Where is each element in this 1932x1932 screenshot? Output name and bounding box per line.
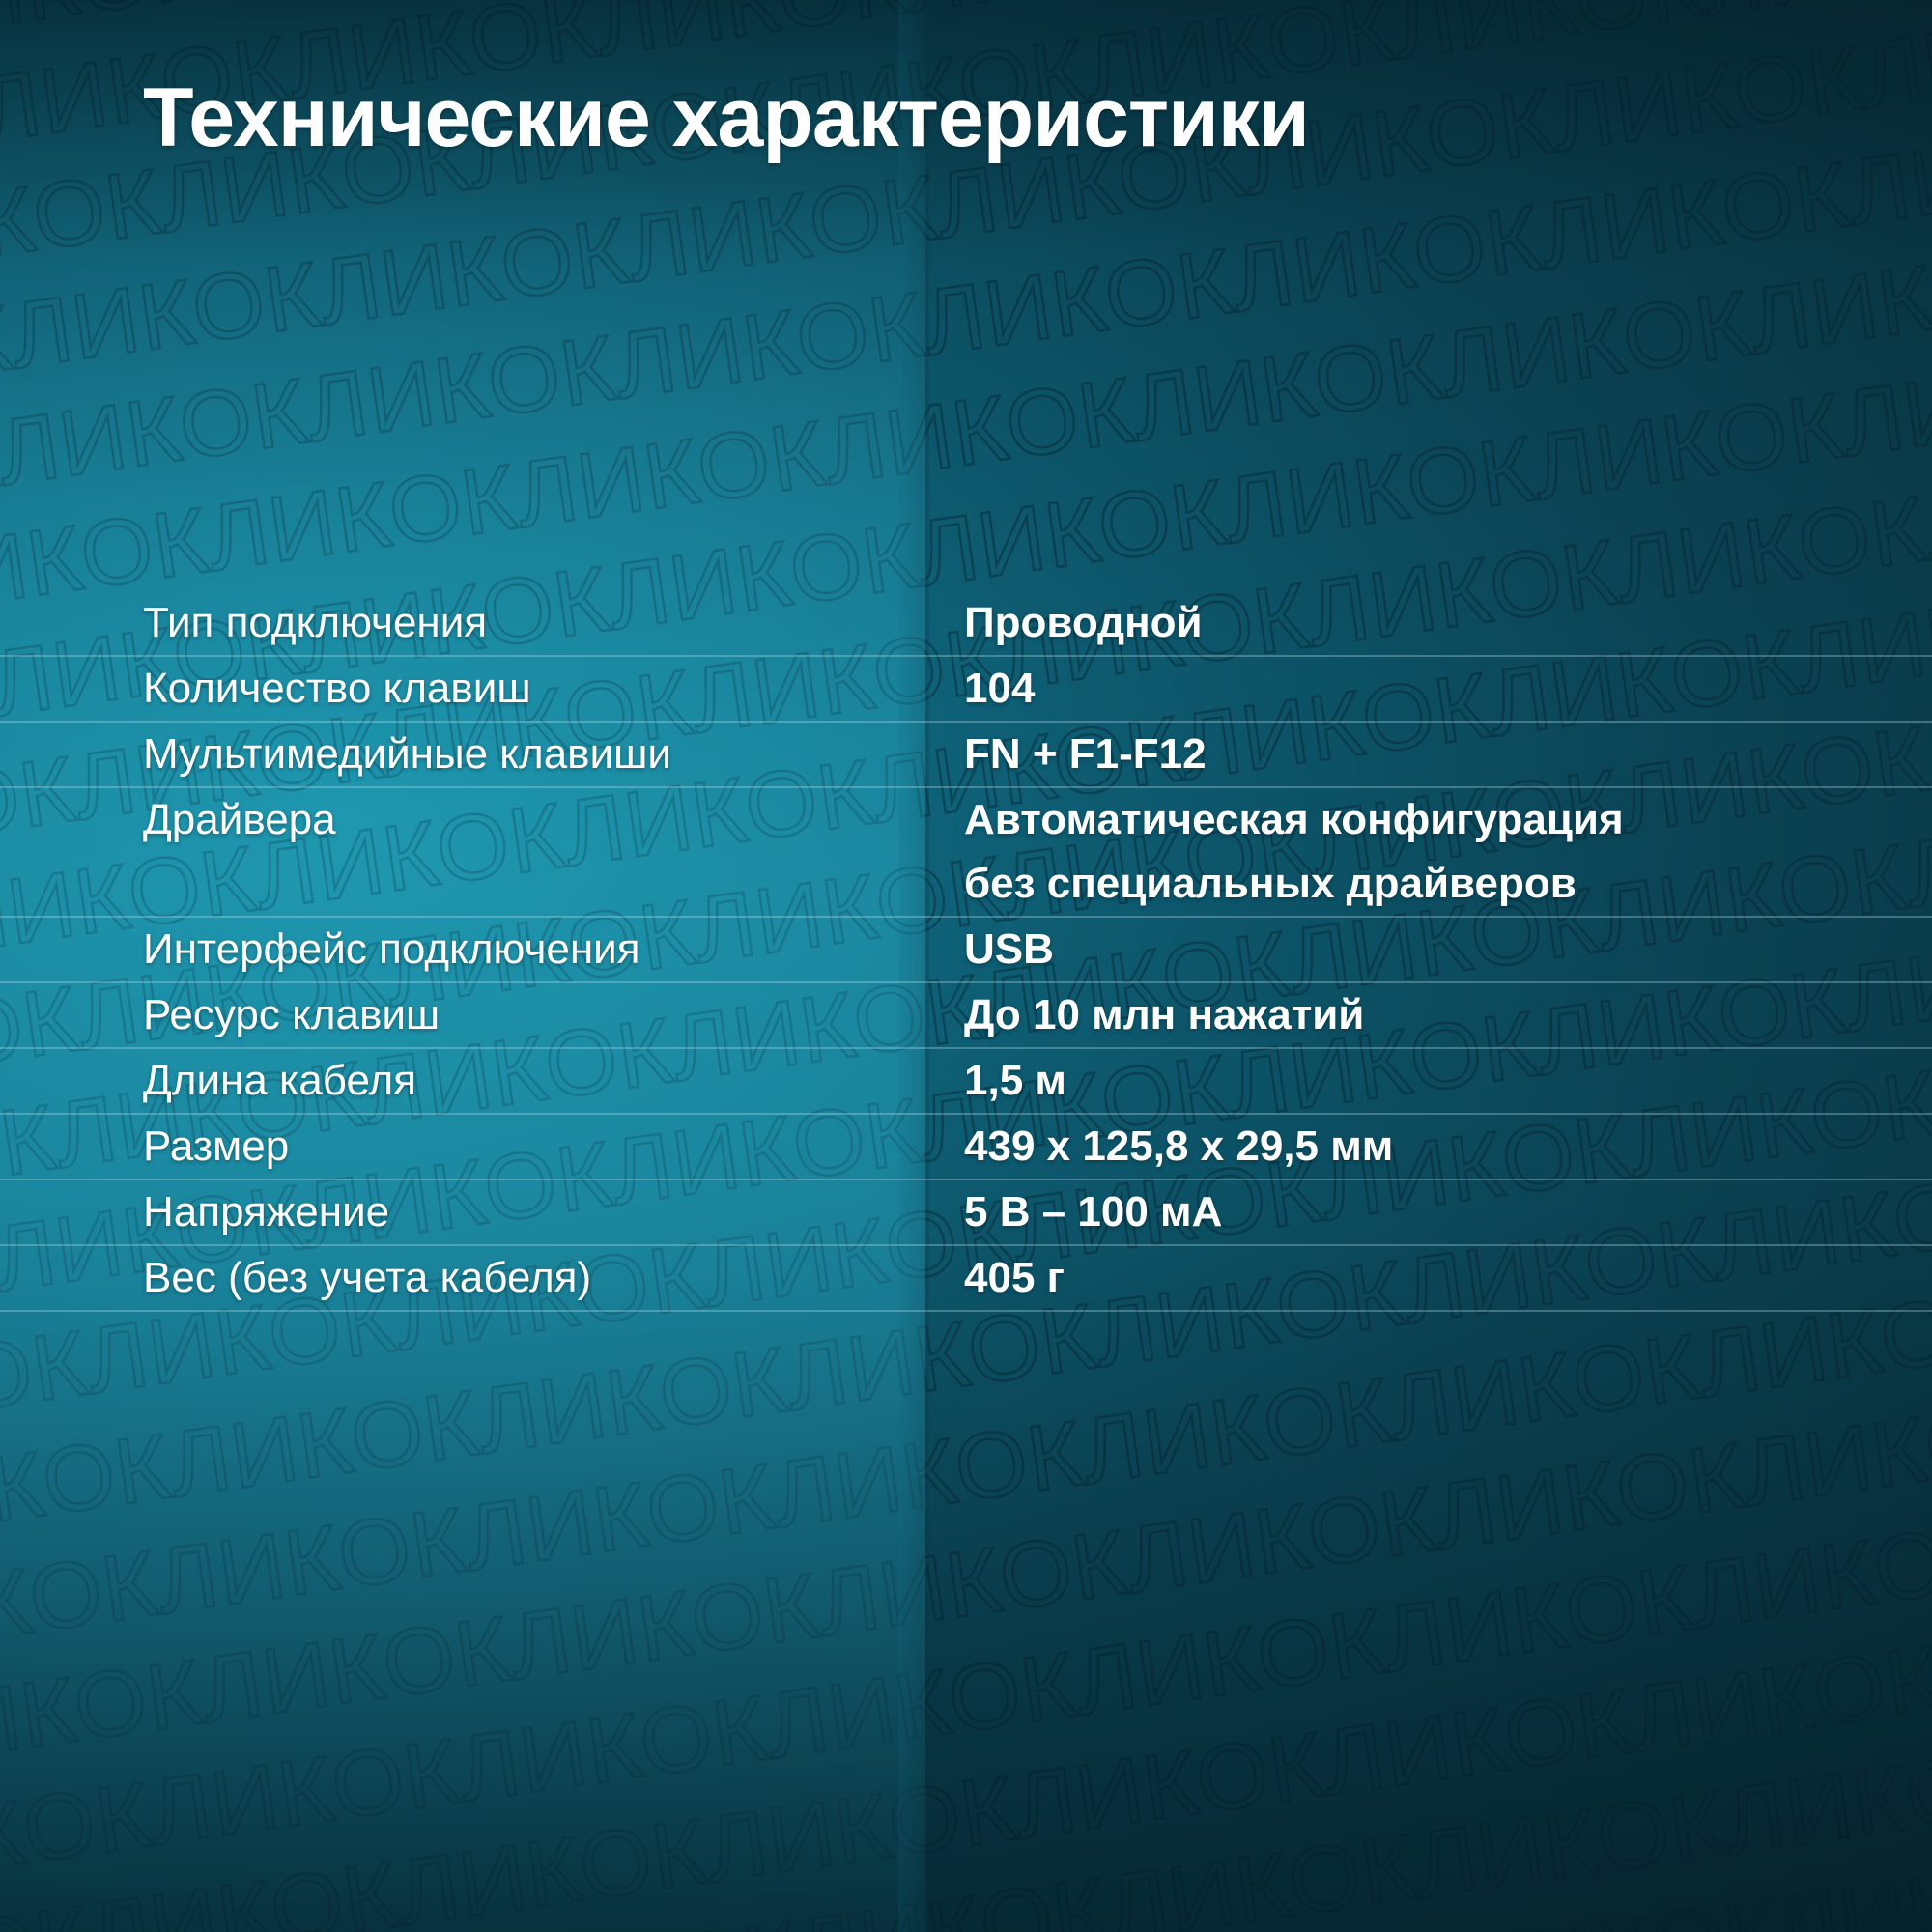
spec-label: Напряжение bbox=[0, 1180, 925, 1244]
spec-value: 5 В – 100 мА bbox=[925, 1180, 1932, 1244]
spec-value: 1,5 м bbox=[925, 1049, 1932, 1113]
spec-value: 405 г bbox=[925, 1246, 1932, 1310]
spec-value: 439 x 125,8 x 29,5 мм bbox=[925, 1115, 1932, 1179]
spec-value: Автоматическая конфигурация без специаль… bbox=[925, 788, 1932, 916]
spec-label: Интерфейс подключения bbox=[0, 918, 925, 981]
spec-label: Тип подключения bbox=[0, 591, 925, 655]
spec-label: Длина кабеля bbox=[0, 1049, 925, 1113]
spec-label: Количество клавиш bbox=[0, 657, 925, 721]
table-row: Напряжение5 В – 100 мА bbox=[0, 1180, 1932, 1246]
table-row: Размер439 x 125,8 x 29,5 мм bbox=[0, 1115, 1932, 1180]
spec-value: До 10 млн нажатий bbox=[925, 983, 1932, 1047]
table-row: Мультимедийные клавишиFN + F1-F12 bbox=[0, 723, 1932, 788]
spec-label: Вес (без учета кабеля) bbox=[0, 1246, 925, 1310]
table-row: Ресурс клавишДо 10 млн нажатий bbox=[0, 983, 1932, 1049]
specifications-table: Тип подключенияПроводнойКоличество клави… bbox=[0, 591, 1932, 1312]
table-row: Интерфейс подключенияUSB bbox=[0, 918, 1932, 983]
spec-label: Ресурс клавиш bbox=[0, 983, 925, 1047]
table-row: Количество клавиш104 bbox=[0, 657, 1932, 723]
spec-label: Размер bbox=[0, 1115, 925, 1179]
spec-value: 104 bbox=[925, 657, 1932, 721]
spec-label: Драйвера bbox=[0, 788, 925, 852]
spec-value: Проводной bbox=[925, 591, 1932, 655]
table-row: Вес (без учета кабеля)405 г bbox=[0, 1246, 1932, 1312]
spec-value: USB bbox=[925, 918, 1932, 981]
spec-label: Мультимедийные клавиши bbox=[0, 723, 925, 786]
table-row: Длина кабеля1,5 м bbox=[0, 1049, 1932, 1115]
page-title: Технические характеристики bbox=[143, 73, 1862, 163]
slide-canvas: КЛИКОКЛИКОКЛИКОКЛИКОКЛИКОКЛИКОКЛИКОКЛИКО… bbox=[0, 0, 1932, 1932]
spec-value: FN + F1-F12 bbox=[925, 723, 1932, 786]
table-row: ДрайвераАвтоматическая конфигурация без … bbox=[0, 788, 1932, 918]
table-row: Тип подключенияПроводной bbox=[0, 591, 1932, 657]
